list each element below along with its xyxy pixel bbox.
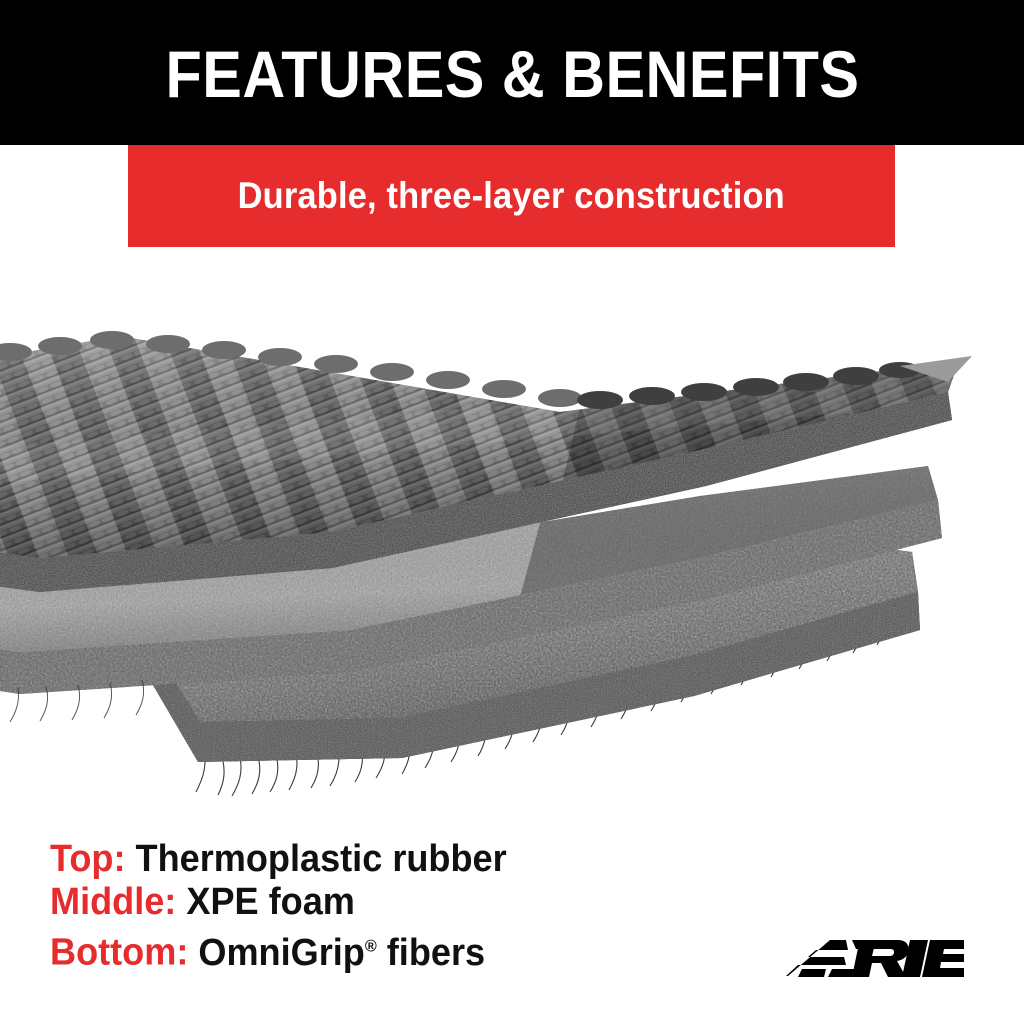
spec-value-bottom-suffix: fibers xyxy=(377,932,485,974)
spec-row-middle: Middle: XPE foam xyxy=(50,881,715,924)
header-band: FEATURES & BENEFITS xyxy=(0,0,1024,145)
spec-row-top: Top: Thermoplastic rubber xyxy=(50,838,715,881)
aries-logo: ® xyxy=(786,936,964,980)
registered-trademark-icon: ® xyxy=(365,936,377,955)
spec-row-bottom: Bottom: OmniGrip® fibers xyxy=(50,924,715,975)
layer-spec-list: Top: Thermoplastic rubber Middle: XPE fo… xyxy=(50,838,750,975)
spec-label-bottom: Bottom: xyxy=(50,932,188,974)
spec-value-top: Thermoplastic rubber xyxy=(136,838,507,880)
spec-value-bottom: OmniGrip® fibers xyxy=(198,932,485,974)
subtitle-band: Durable, three-layer construction xyxy=(128,145,895,247)
spec-value-bottom-name: OmniGrip xyxy=(198,932,364,974)
infographic-canvas: FEATURES & BENEFITS Durable, three-layer… xyxy=(0,0,1024,1024)
product-photo xyxy=(0,300,1024,800)
page-title: FEATURES & BENEFITS xyxy=(165,41,859,107)
brand-registered-trademark-icon: ® xyxy=(958,940,964,948)
spec-label-middle: Middle: xyxy=(50,881,176,923)
spec-label-top: Top: xyxy=(50,838,126,880)
subtitle-text: Durable, three-layer construction xyxy=(238,175,785,217)
spec-value-middle: XPE foam xyxy=(186,881,355,923)
